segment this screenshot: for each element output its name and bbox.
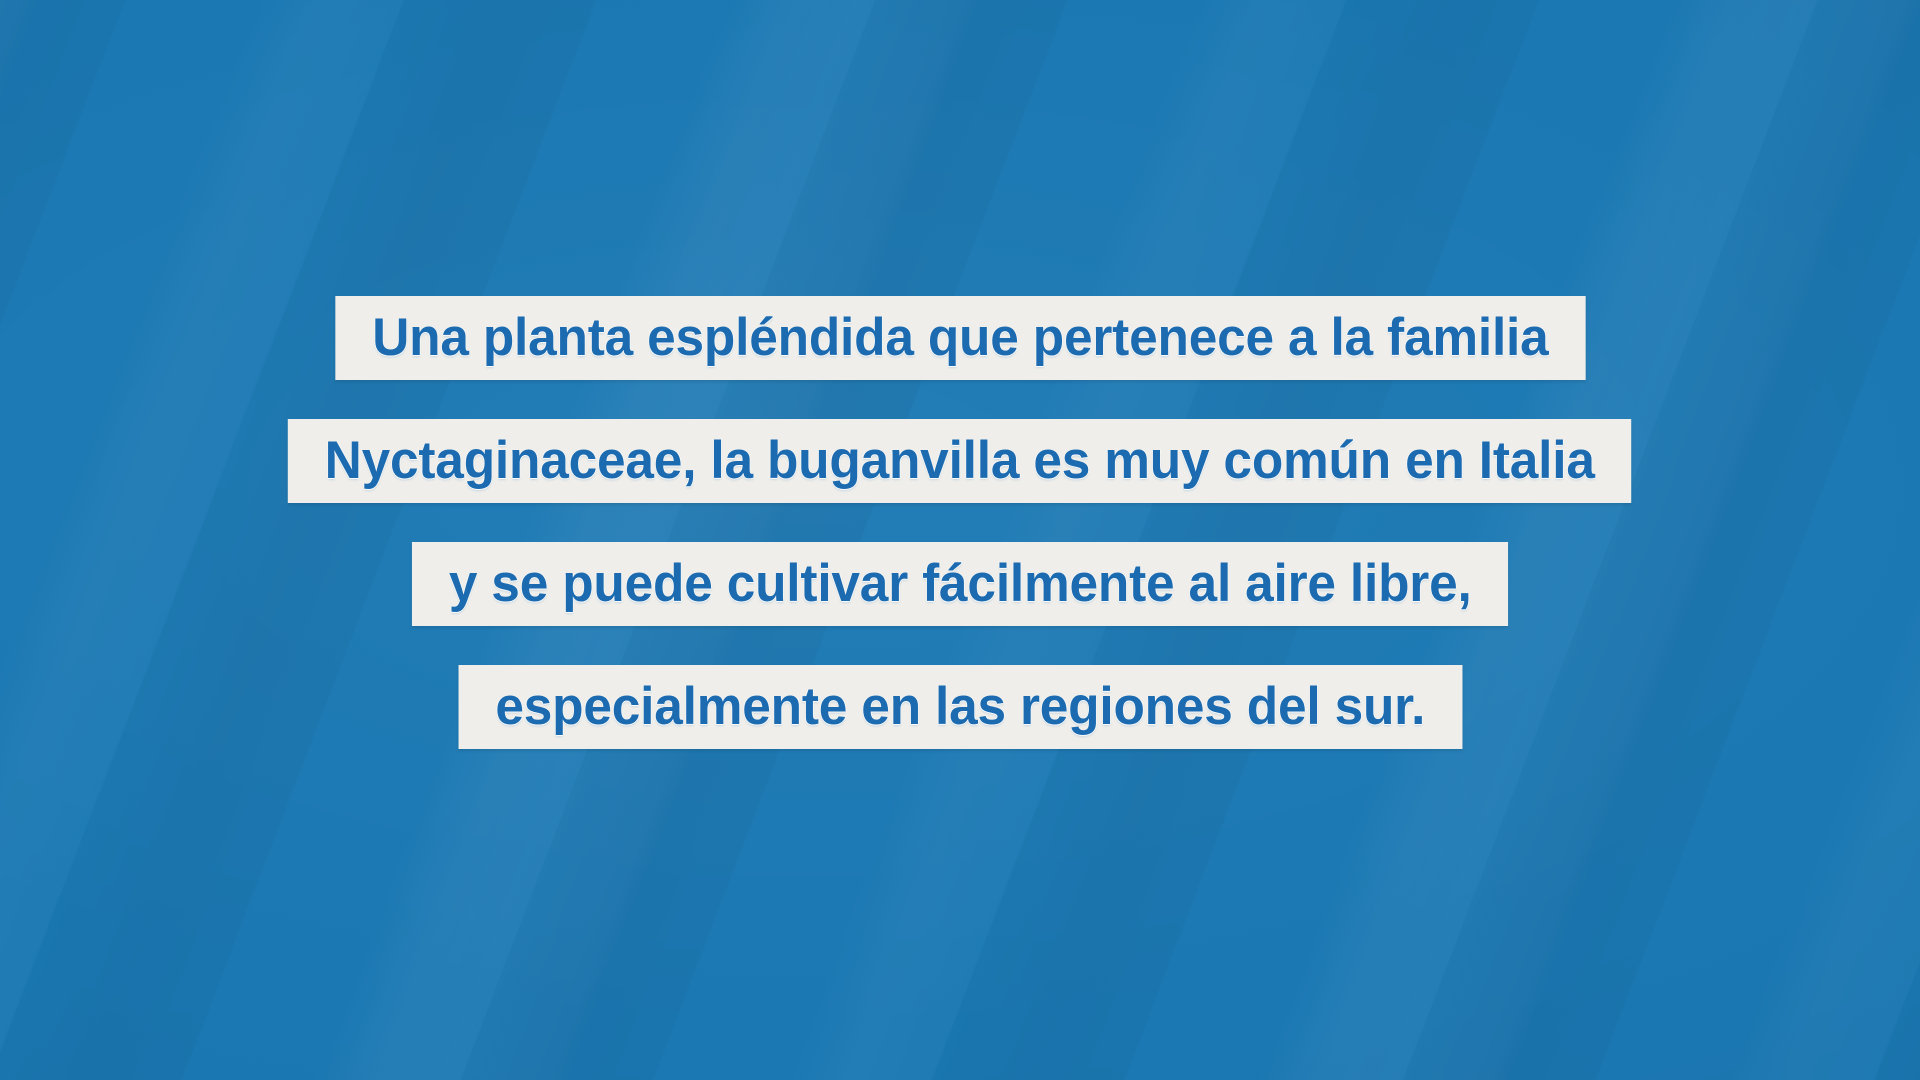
caption-text-block: Una planta espléndida que pertenece a la… xyxy=(0,296,1920,749)
caption-line-2: Nyctaginaceae, la buganvilla es muy comú… xyxy=(288,419,1632,503)
caption-line-4: especialmente en las regiones del sur. xyxy=(458,665,1462,749)
caption-line-1: Una planta espléndida que pertenece a la… xyxy=(335,296,1585,380)
caption-slide: Una planta espléndida que pertenece a la… xyxy=(0,0,1920,1080)
caption-line-3: y se puede cultivar fácilmente al aire l… xyxy=(412,542,1509,626)
